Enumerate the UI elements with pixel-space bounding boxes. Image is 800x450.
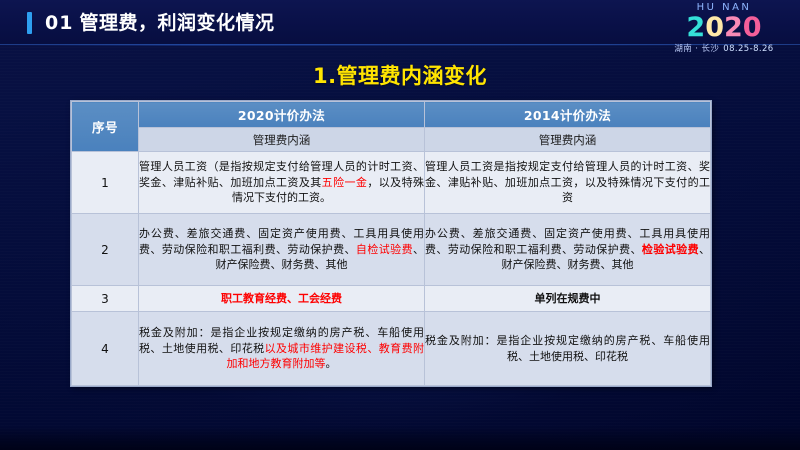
table-head: 序号 2020计价办法 2014计价办法 管理费内涵 管理费内涵 — [72, 102, 711, 152]
logo-digit-3: 2 — [724, 14, 743, 42]
table-cell-2020: 税金及附加：是指企业按规定缴纳的房产税、车船使用税、土地使用税、印花税以及城市维… — [139, 312, 425, 386]
table-header-row: 序号 2020计价办法 2014计价办法 — [72, 102, 711, 128]
logo-location: 湖南 · 长沙 — [674, 44, 719, 54]
table-cell-2014: 办公费、差旅交通费、固定资产使用费、工具用具使用费、劳动保险和职工福利费、劳动保… — [425, 214, 711, 286]
text-segment: 管理人员工资是指按规定支付给管理人员的计时工资、奖金、津贴补贴、加班加点工资，以… — [425, 160, 710, 204]
text-segment: 。 — [326, 357, 337, 370]
logo-subtitle: 湖南 · 长沙08.25-8.26 — [664, 45, 784, 54]
table-cell-2020: 职工教育经费、工会经费 — [139, 286, 425, 312]
event-logo: HU NAN 2020 湖南 · 长沙08.25-8.26 — [664, 3, 784, 54]
table-cell-no: 4 — [72, 312, 139, 386]
accent-bar-icon — [27, 12, 32, 34]
bottom-gradient-strip — [0, 426, 800, 450]
table-cell-2020: 办公费、差旅交通费、固定资产使用费、工具用具使用费、劳动保险和职工福利费、劳动保… — [139, 214, 425, 286]
table-cell-no: 3 — [72, 286, 139, 312]
highlighted-text-segment: 五险一金 — [322, 176, 368, 189]
logo-digit-4: 0 — [743, 14, 762, 42]
table-subheader-2020: 管理费内涵 — [139, 128, 425, 152]
table-header-2020: 2020计价办法 — [139, 102, 425, 128]
text-segment: 单列在规费中 — [535, 292, 601, 305]
highlighted-text-segment: 检验试验费 — [642, 243, 699, 256]
section-title-text: 管理费，利润变化情况 — [79, 12, 274, 34]
highlighted-text-segment: 职工教育经费、工会经费 — [221, 292, 342, 305]
comparison-table-container: 序号 2020计价办法 2014计价办法 管理费内涵 管理费内涵 1管理人员工资… — [71, 101, 710, 386]
table-cell-no: 1 — [72, 152, 139, 214]
page-title: 01管理费，利润变化情况 — [45, 9, 274, 37]
table-row: 2办公费、差旅交通费、固定资产使用费、工具用具使用费、劳动保险和职工福利费、劳动… — [72, 214, 711, 286]
table-body: 1管理人员工资（是指按规定支付给管理人员的计时工资、奖金、津贴补贴、加班加点工资… — [72, 152, 711, 386]
highlighted-text-segment: 自检试验费 — [356, 243, 413, 256]
logo-dates: 08.25-8.26 — [723, 44, 773, 54]
text-segment: 税金及附加：是指企业按规定缴纳的房产税、车船使用税、土地使用税、印花税 — [425, 334, 710, 363]
table-row: 1管理人员工资（是指按规定支付给管理人员的计时工资、奖金、津贴补贴、加班加点工资… — [72, 152, 711, 214]
table-cell-2014: 税金及附加：是指企业按规定缴纳的房产税、车船使用税、土地使用税、印花税 — [425, 312, 711, 386]
section-number: 01 — [45, 12, 73, 34]
slide-title: 1.管理费内涵变化 — [0, 60, 800, 90]
table-cell-2020: 管理人员工资（是指按规定支付给管理人员的计时工资、奖金、津贴补贴、加班加点工资及… — [139, 152, 425, 214]
logo-digit-2: 0 — [705, 14, 724, 42]
header-bar: 01管理费，利润变化情况 HU NAN 2020 湖南 · 长沙08.25-8.… — [0, 0, 800, 45]
slide-canvas: 01管理费，利润变化情况 HU NAN 2020 湖南 · 长沙08.25-8.… — [0, 0, 800, 450]
table-subheader-row: 管理费内涵 管理费内涵 — [72, 128, 711, 152]
table-header-no: 序号 — [72, 102, 139, 152]
table-row: 4税金及附加：是指企业按规定缴纳的房产税、车船使用税、土地使用税、印花税以及城市… — [72, 312, 711, 386]
logo-digit-1: 2 — [686, 14, 705, 42]
table-row: 3职工教育经费、工会经费单列在规费中 — [72, 286, 711, 312]
table-cell-no: 2 — [72, 214, 139, 286]
table-subheader-2014: 管理费内涵 — [425, 128, 711, 152]
logo-year-2020: 2020 — [664, 14, 784, 42]
table-cell-2014: 单列在规费中 — [425, 286, 711, 312]
comparison-table: 序号 2020计价办法 2014计价办法 管理费内涵 管理费内涵 1管理人员工资… — [71, 101, 711, 386]
table-header-2014: 2014计价办法 — [425, 102, 711, 128]
table-cell-2014: 管理人员工资是指按规定支付给管理人员的计时工资、奖金、津贴补贴、加班加点工资，以… — [425, 152, 711, 214]
